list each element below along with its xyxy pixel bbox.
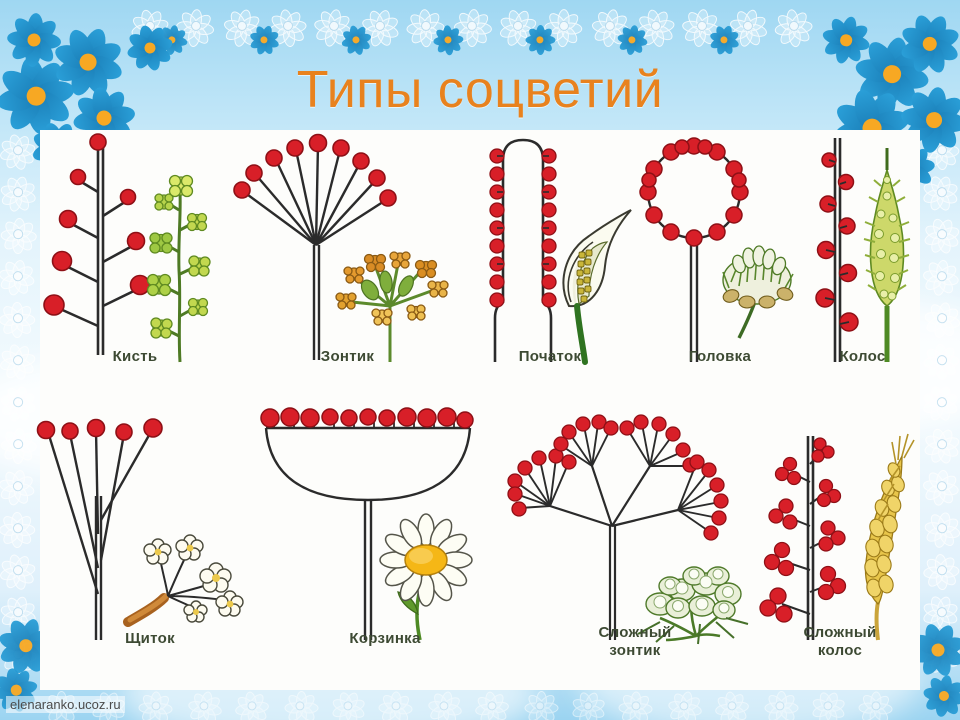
raceme-diagram (40, 130, 230, 375)
border-outline-flower (186, 688, 222, 720)
cell-compound-umbel[interactable]: Сложный зонтик (510, 408, 760, 690)
row-compound-inflorescences: Щиток (40, 408, 920, 690)
watermark: elenaranko.ucoz.ru (6, 696, 125, 713)
border-outline-flower (921, 213, 960, 256)
flower-center (13, 439, 23, 449)
cell-head[interactable]: Головка (635, 130, 805, 410)
border-outline-flower (525, 691, 555, 720)
border-outline-flower (923, 509, 960, 547)
caption-compound-umbel-line1: Сложный (510, 624, 760, 641)
cell-corymb[interactable]: Щиток (40, 408, 260, 690)
caption-head: Головка (635, 348, 805, 365)
border-outline-flower (919, 547, 960, 592)
border-outline-flower (1, 427, 34, 460)
border-outline-flower (0, 254, 40, 298)
caption-umbel: Зонтик (230, 348, 465, 365)
caption-spadix: Початок (465, 348, 635, 365)
content-panel: Кисть (40, 130, 920, 690)
border-outline-flower (923, 299, 960, 337)
border-outline-flower (666, 688, 702, 720)
compound-umbel-diagram (510, 408, 760, 653)
spadix-diagram (465, 130, 635, 375)
border-flower (5, 11, 64, 70)
page-title: Типы соцветий (0, 62, 960, 118)
caption-compound-umbel-line2: зонтик (510, 642, 760, 659)
spike-diagram (805, 130, 920, 375)
slide-canvas: Типы соцветий (0, 0, 960, 720)
border-outline-flower (920, 464, 960, 509)
border-flower (615, 23, 650, 58)
border-outline-flower (920, 254, 960, 299)
caption-compound-spike-line1: Сложный (760, 624, 920, 641)
flower-center (13, 229, 23, 239)
cell-raceme[interactable]: Кисть (40, 130, 230, 410)
cell-capitulum[interactable]: Корзинка (260, 408, 510, 690)
caption-capitulum: Корзинка (260, 630, 510, 647)
corymb-diagram (40, 408, 260, 653)
border-outline-flower (1, 217, 34, 250)
border-outline-flower (0, 295, 41, 340)
border-outline-flower (770, 2, 818, 50)
border-outline-flower (285, 691, 315, 720)
border-flower (920, 672, 960, 720)
cell-umbel[interactable]: Зонтик (230, 130, 465, 410)
head-diagram (635, 130, 805, 375)
border-outline-flower (426, 688, 462, 720)
border-outline-flower (921, 423, 960, 466)
border-outline-flower (0, 172, 38, 212)
border-outline-flower (0, 505, 41, 550)
caption-compound-spike-line2: колос (760, 642, 920, 659)
compound-spike-diagram (760, 408, 920, 653)
caption-spike: Колос (805, 348, 920, 365)
capitulum-diagram (260, 408, 510, 653)
caption-raceme: Кисть (40, 348, 230, 365)
border-outline-flower (765, 691, 795, 720)
row-simple-inflorescences: Кисть (40, 130, 920, 410)
cell-spadix[interactable]: Початок (465, 130, 635, 410)
border-outline-flower (0, 548, 40, 592)
cell-spike[interactable]: Колос (805, 130, 920, 410)
border-flower (525, 25, 555, 55)
umbel-diagram (230, 130, 465, 375)
cell-compound-spike[interactable]: Сложный колос (760, 408, 920, 690)
caption-corymb: Щиток (40, 630, 260, 647)
